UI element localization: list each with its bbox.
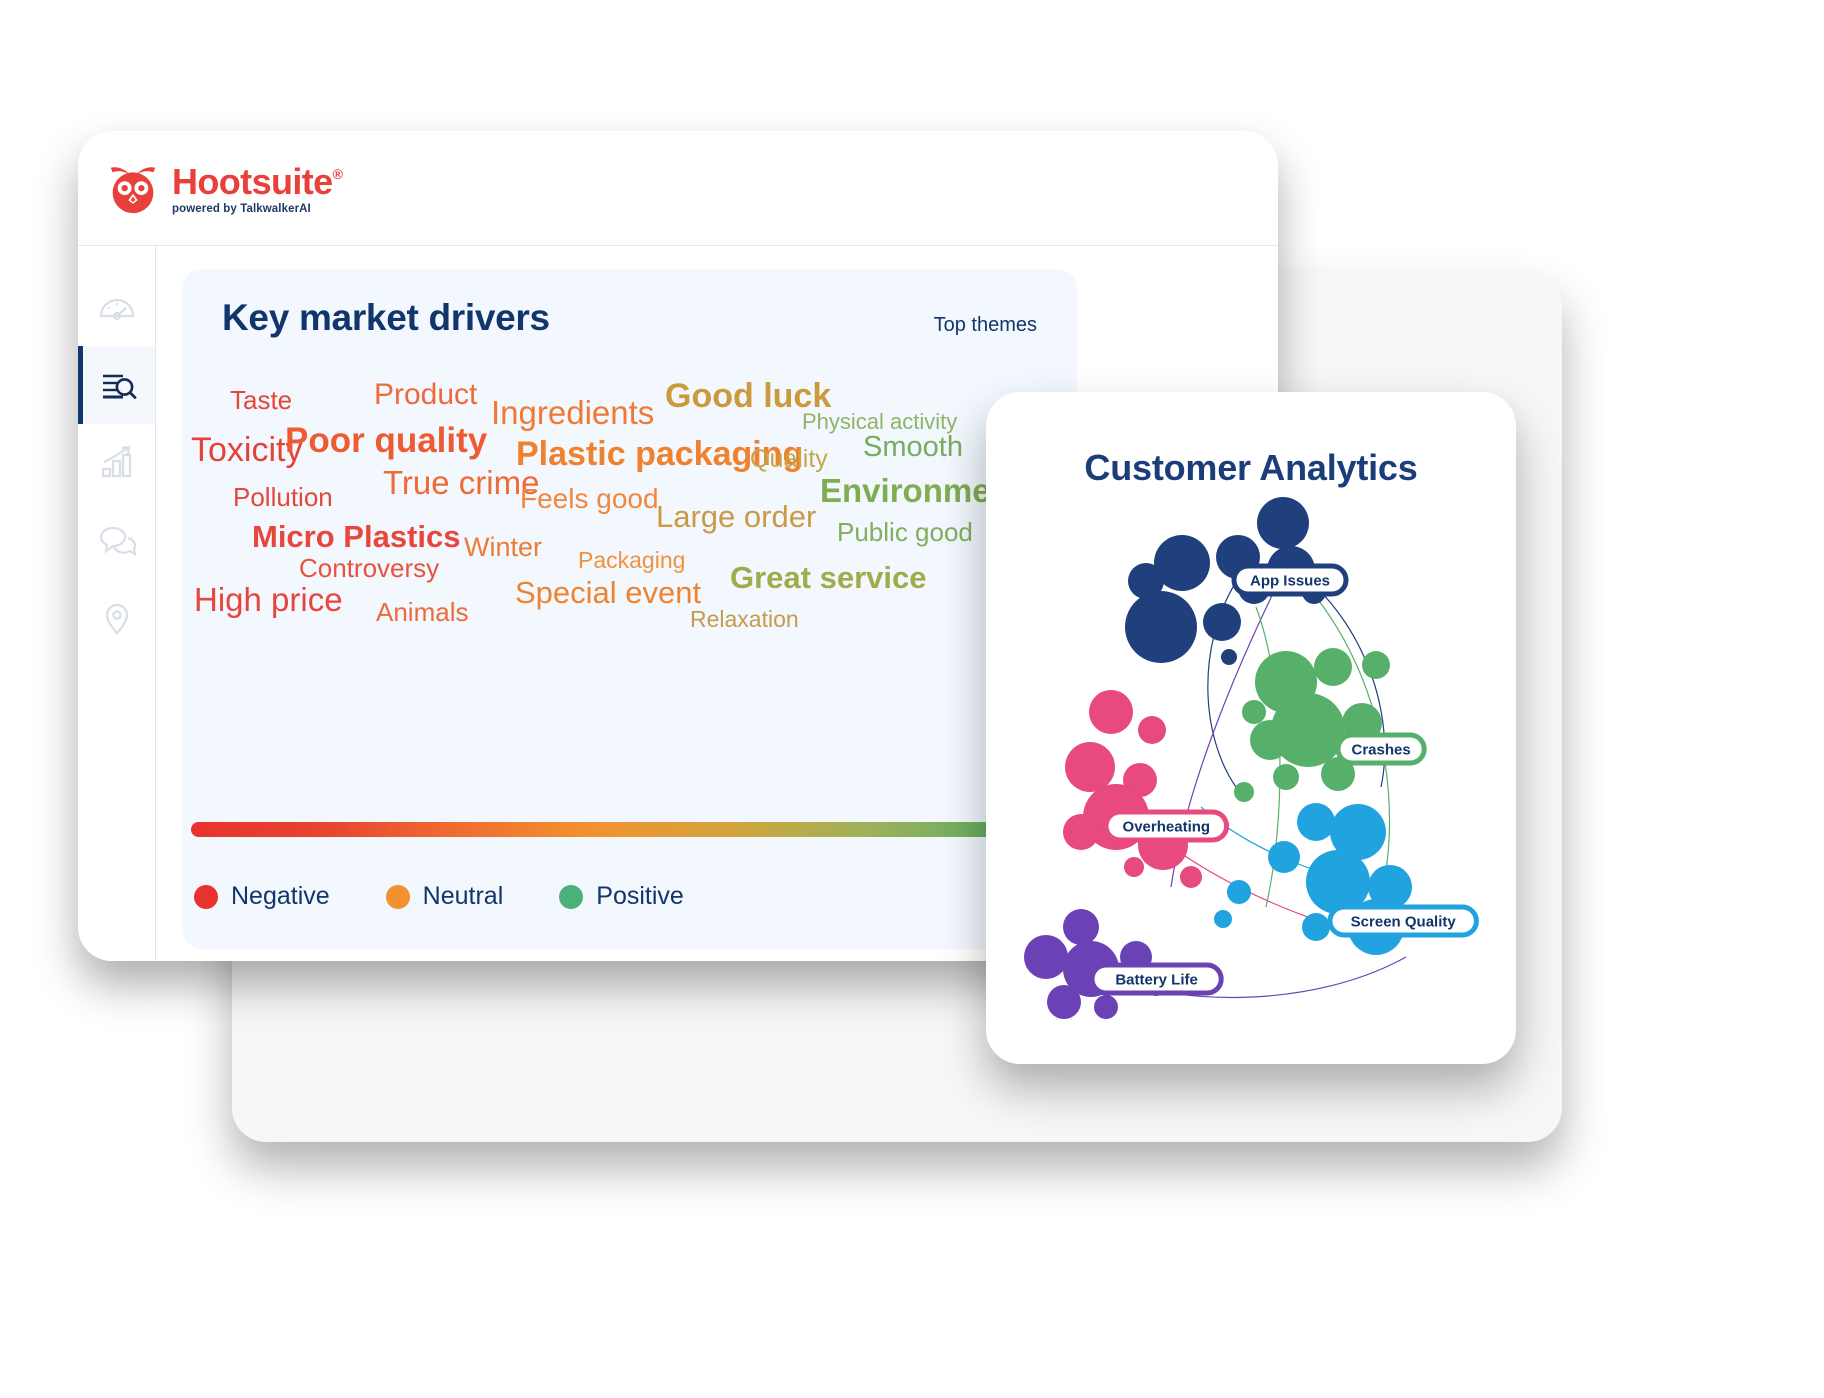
cluster-label-pill[interactable]: Crashes bbox=[1338, 735, 1424, 763]
brand-name-text: Hootsuite bbox=[172, 164, 333, 200]
word-cloud-item[interactable]: Pollution bbox=[233, 484, 333, 510]
legend-item[interactable]: Neutral bbox=[386, 882, 504, 911]
sidebar-item-messages[interactable] bbox=[78, 502, 155, 580]
legend-label: Neutral bbox=[423, 882, 504, 911]
legend-dot-icon bbox=[559, 885, 583, 909]
screenshot-root: Hootsuite® powered by TalkwalkerAI bbox=[0, 0, 1824, 1398]
key-market-drivers-panel: Key market drivers Top themes TasteProdu… bbox=[182, 269, 1077, 949]
customer-analytics-title: Customer Analytics bbox=[986, 447, 1516, 489]
word-cloud-item[interactable]: Winter bbox=[464, 534, 542, 561]
cluster-label-pill[interactable]: App Issues bbox=[1234, 566, 1346, 594]
brand-name: Hootsuite® bbox=[172, 164, 342, 200]
word-cloud-item[interactable]: Good luck bbox=[665, 379, 831, 413]
word-cloud-item[interactable]: Controversy bbox=[299, 555, 439, 581]
sidebar-item-analytics[interactable] bbox=[78, 424, 155, 502]
search-list-icon bbox=[96, 364, 138, 406]
legend-item[interactable]: Positive bbox=[559, 882, 684, 911]
legend-label: Negative bbox=[231, 882, 330, 911]
cluster-label-pill[interactable]: Screen Quality bbox=[1330, 907, 1476, 935]
bubble-network-chart: App IssuesCrashesOverheatingScreen Quali… bbox=[986, 487, 1516, 1064]
bar-chart-icon bbox=[96, 442, 138, 484]
word-cloud-item[interactable]: Product bbox=[374, 380, 477, 410]
word-cloud-item[interactable]: Feels good bbox=[520, 485, 659, 513]
cluster-label-text: Screen Quality bbox=[1351, 914, 1457, 931]
word-cloud-item[interactable]: Animals bbox=[376, 599, 468, 625]
cluster-label-pill[interactable]: Overheating bbox=[1106, 812, 1227, 840]
word-cloud-item[interactable]: Packaging bbox=[578, 549, 685, 572]
word-cloud-item[interactable]: Taste bbox=[230, 387, 292, 413]
cluster-overheating[interactable] bbox=[1063, 690, 1202, 888]
sidebar-item-dashboard[interactable] bbox=[78, 268, 155, 346]
top-themes-label[interactable]: Top themes bbox=[934, 314, 1037, 337]
legend-dot-icon bbox=[386, 885, 410, 909]
cluster-label-text: App Issues bbox=[1250, 573, 1330, 590]
word-cloud-item[interactable]: Micro Plastics bbox=[252, 521, 460, 552]
gauge-icon bbox=[96, 286, 138, 328]
brand-tagline: powered by TalkwalkerAI bbox=[172, 204, 342, 216]
legend-dot-icon bbox=[194, 885, 218, 909]
word-cloud-item[interactable]: Quality bbox=[750, 447, 828, 472]
brand-logo-group[interactable]: Hootsuite® powered by TalkwalkerAI bbox=[105, 164, 342, 216]
sidebar-item-locations[interactable] bbox=[78, 580, 155, 658]
chat-bubbles-icon bbox=[96, 520, 138, 562]
word-cloud-item[interactable]: Large order bbox=[656, 501, 816, 532]
word-cloud-item[interactable]: High price bbox=[194, 583, 343, 616]
word-cloud-item[interactable]: Physical activity bbox=[802, 411, 957, 433]
cluster-label-text: Battery Life bbox=[1115, 972, 1198, 989]
customer-analytics-card: Customer Analytics bbox=[986, 392, 1516, 1064]
word-cloud-item[interactable]: Poor quality bbox=[285, 423, 487, 458]
word-cloud-item[interactable]: Great service bbox=[730, 562, 926, 593]
registered-mark: ® bbox=[333, 167, 343, 181]
word-cloud-item[interactable]: Ingredients bbox=[491, 396, 654, 429]
cluster-label-text: Overheating bbox=[1123, 819, 1211, 836]
cluster-crashes[interactable] bbox=[1234, 648, 1390, 802]
legend-item[interactable]: Negative bbox=[194, 882, 330, 911]
page-title: Key market drivers bbox=[222, 297, 550, 339]
word-cloud-item[interactable]: True crime bbox=[383, 466, 539, 499]
word-cloud-item[interactable]: Public good bbox=[837, 519, 973, 545]
cluster-label-pill[interactable]: Battery Life bbox=[1092, 965, 1221, 993]
sidebar bbox=[78, 246, 156, 961]
word-cloud: TasteProductIngredientsGood luckPhysical… bbox=[182, 379, 1077, 714]
sentiment-gradient-bar bbox=[191, 822, 1053, 837]
sentiment-legend: NegativeNeutralPositive bbox=[194, 882, 684, 911]
word-cloud-item[interactable]: Relaxation bbox=[690, 608, 799, 631]
app-header: Hootsuite® powered by TalkwalkerAI bbox=[78, 131, 1278, 246]
legend-label: Positive bbox=[596, 882, 684, 911]
word-cloud-item[interactable]: Smooth bbox=[863, 433, 963, 462]
sidebar-item-search[interactable] bbox=[78, 346, 155, 424]
owl-icon bbox=[105, 165, 161, 215]
location-pin-icon bbox=[96, 598, 138, 640]
word-cloud-item[interactable]: Special event bbox=[515, 577, 701, 608]
cluster-label-text: Crashes bbox=[1351, 742, 1410, 759]
